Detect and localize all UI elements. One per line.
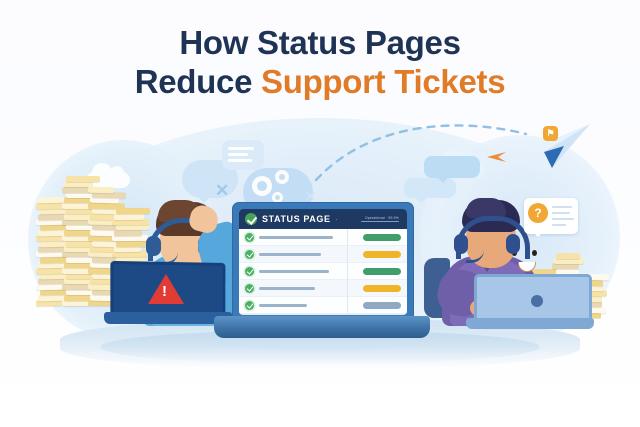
gear-icon bbox=[275, 170, 289, 184]
paper-sheet bbox=[552, 263, 579, 269]
check-circle-icon bbox=[245, 284, 254, 293]
status-row[interactable] bbox=[239, 246, 407, 263]
paper-sheet bbox=[62, 284, 91, 290]
status-row-label bbox=[259, 236, 333, 239]
status-row[interactable] bbox=[239, 297, 407, 314]
status-badge bbox=[363, 251, 401, 258]
check-circle-icon bbox=[245, 250, 254, 259]
check-circle-icon bbox=[245, 213, 257, 225]
right-laptop-logo bbox=[531, 295, 543, 307]
status-page-screen[interactable]: STATUS PAGE . Operational · 99.9% bbox=[239, 209, 407, 315]
status-page-divider bbox=[347, 229, 348, 315]
warning-glyph: ! bbox=[162, 284, 167, 299]
status-page-title: STATUS PAGE bbox=[262, 214, 331, 224]
check-circle-icon bbox=[245, 233, 254, 242]
illustration-canvas: How Status Pages Reduce Support Tickets … bbox=[0, 0, 640, 427]
question-badge-icon: ? bbox=[528, 203, 548, 223]
status-row-label bbox=[259, 304, 307, 307]
small-dart-icon bbox=[486, 150, 508, 164]
agent-eye-right bbox=[532, 250, 537, 256]
paper-sheet bbox=[88, 186, 114, 193]
status-row[interactable] bbox=[239, 280, 407, 297]
check-circle-icon bbox=[245, 267, 254, 276]
status-badge bbox=[363, 234, 401, 241]
center-laptop-lid: STATUS PAGE . Operational · 99.9% bbox=[232, 202, 414, 322]
right-laptop bbox=[470, 274, 594, 336]
gear-icon bbox=[252, 176, 272, 196]
status-row-label bbox=[259, 253, 321, 256]
paper-sheet bbox=[64, 214, 91, 220]
paper-sheet bbox=[66, 176, 100, 182]
paper-sheet bbox=[554, 258, 584, 264]
left-laptop: ! bbox=[104, 262, 232, 328]
status-row[interactable] bbox=[239, 263, 407, 280]
right-laptop-base bbox=[466, 318, 594, 329]
title-line-2-accent: Support Tickets bbox=[261, 63, 505, 100]
status-page-meta-rule bbox=[361, 221, 399, 223]
status-row[interactable] bbox=[239, 229, 407, 246]
status-row-label bbox=[259, 287, 315, 290]
status-page-subtitle: . bbox=[336, 216, 338, 222]
ticket-stack-left bbox=[38, 0, 238, 200]
left-laptop-base bbox=[104, 312, 232, 324]
center-laptop: STATUS PAGE . Operational · 99.9% bbox=[222, 202, 422, 352]
agent-hair-highlight bbox=[466, 198, 506, 218]
paper-sheet bbox=[66, 257, 93, 263]
ticket-stack-right bbox=[530, 0, 640, 200]
status-badge bbox=[363, 302, 401, 309]
paper-sheet bbox=[40, 240, 67, 247]
paper-sheet bbox=[556, 253, 580, 259]
status-badge bbox=[363, 285, 401, 292]
check-circle-icon bbox=[245, 301, 254, 310]
paper-sheet bbox=[36, 283, 63, 290]
paper-sheet bbox=[38, 197, 64, 204]
status-page-meta: Operational · 99.9% bbox=[361, 216, 401, 223]
center-laptop-base bbox=[214, 316, 430, 338]
status-page-header: STATUS PAGE . Operational · 99.9% bbox=[239, 209, 407, 229]
paper-sheet bbox=[62, 300, 90, 306]
status-badge bbox=[363, 268, 401, 275]
status-row-label bbox=[259, 270, 329, 273]
headset-earcup-right bbox=[506, 234, 520, 254]
status-page-meta-text: Operational · 99.9% bbox=[365, 216, 399, 220]
status-row-list bbox=[239, 229, 407, 314]
